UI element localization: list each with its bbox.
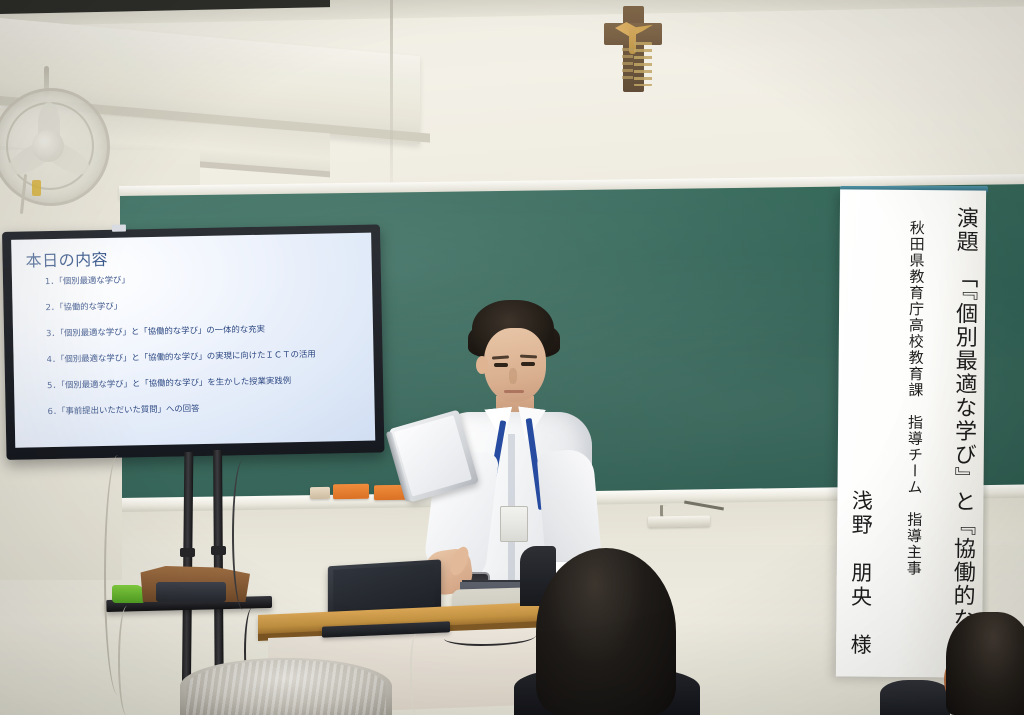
bag-contents — [156, 582, 226, 602]
fan-tag — [32, 180, 41, 196]
stand-joint — [180, 548, 195, 557]
banner-affiliation-line: 秋田県教育庁高校教育課 指導チーム 指導主事 — [905, 220, 924, 650]
wooden-cross-plaque-icon — [604, 6, 662, 92]
slide-bullet-3: 3．「個別最適な学び」と「協働的な学び」の一体的な充実 — [46, 323, 365, 338]
slide-bullet-6: 6．「事前提出いただいた質問」への回答 — [48, 401, 367, 416]
audience-bob-hair — [536, 548, 676, 715]
fan-hub — [32, 130, 64, 162]
laptop-cable — [410, 634, 426, 714]
id-badge — [500, 506, 528, 542]
orange-chalk-box — [333, 484, 369, 500]
wall-seam — [390, 0, 393, 190]
presenter-mouth — [504, 390, 524, 393]
display-panel: 本日の内容 1．「個別最適な学び」 2．「協働的な学び」 3．「個別最適な学び」… — [11, 233, 375, 448]
presenter-eye — [494, 363, 508, 367]
slide-bullet-1: 1．「個別最適な学び」 — [45, 271, 364, 286]
audience-shoulder-right — [880, 680, 950, 715]
presenter-nose — [509, 368, 517, 384]
plaque-inscription — [634, 42, 652, 86]
display-logo — [112, 225, 126, 232]
presenter-eye — [521, 362, 535, 366]
classroom-photo: 本日の内容 1．「個別最適な学び」 2．「協働的な学び」 3．「個別最適な学び」… — [0, 0, 1024, 715]
signal-cable — [232, 460, 254, 610]
wall-mounted-fan-icon — [0, 88, 110, 206]
slide-bullet-5: 5．「個別最適な学び」と「協働的な学び」を生かした授業実践例 — [47, 375, 366, 390]
banner-speaker-line: 浅野 朋央 様 — [848, 489, 871, 664]
lecture-title-banner: 演題 「『個別最適な学び』と『協働的な学び』の一体的な充実を目指して」 秋田県教… — [836, 189, 986, 677]
stand-joint — [211, 546, 226, 555]
slide-bullet-2: 2．「協働的な学び」 — [45, 297, 364, 312]
presentation-display[interactable]: 本日の内容 1．「個別最適な学び」 2．「協働的な学び」 3．「個別最適な学び」… — [2, 224, 384, 460]
chalk-piece — [310, 487, 330, 499]
audience-gray-hair-texture — [186, 660, 386, 715]
power-cable — [118, 606, 136, 715]
blackboard-eraser — [648, 515, 710, 527]
plaque-inscription-2 — [622, 48, 633, 82]
audience-right-head — [946, 612, 1024, 715]
presenter-ear — [476, 356, 488, 374]
slide-bullet-list: 1．「個別最適な学び」 2．「協働的な学び」 3．「個別最適な学び」と「協働的な… — [45, 271, 367, 433]
slide-bullet-4: 4．「個別最適な学び」と「協働的な学び」の実現に向けたＩＣＴの活用 — [46, 349, 365, 364]
slide-title: 本日の内容 — [25, 246, 108, 272]
banner-title-line: 演題 「『個別最適な学び』と『協働的な学び』の一体的な充実を目指して」 — [949, 206, 976, 661]
